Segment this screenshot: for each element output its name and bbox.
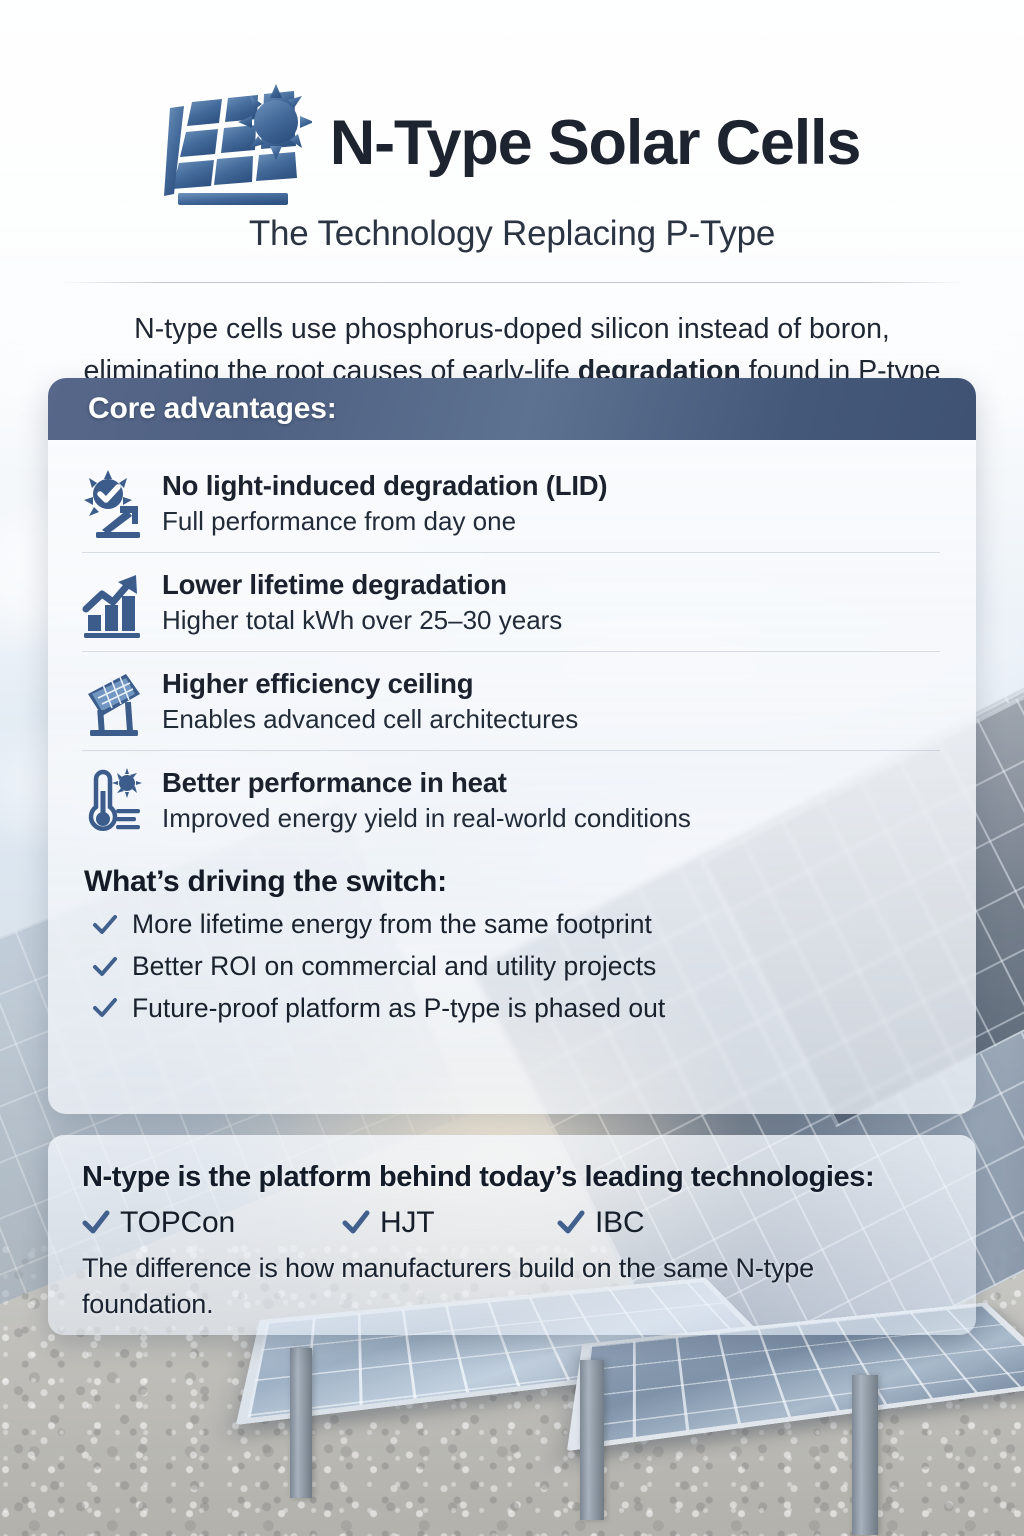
bar-chart-arrow-up-icon	[82, 569, 144, 639]
solar-panel-stand-icon	[82, 668, 144, 738]
title-row: N-Type Solar Cells	[164, 78, 860, 208]
check-icon	[557, 1209, 585, 1237]
list-item: Better performance in heat Improved ener…	[82, 751, 940, 849]
list-item-subtitle: Full performance from day one	[162, 505, 607, 539]
list-item: Higher efficiency ceiling Enables advanc…	[82, 652, 940, 751]
driving-switch-section: What’s driving the switch: More lifetime…	[48, 849, 976, 1024]
advantages-list: No light-induced degradation (LID) Full …	[48, 440, 976, 849]
check-icon	[82, 1209, 110, 1237]
list-item-subtitle: Higher total kWh over 25–30 years	[162, 604, 562, 638]
list-item-title: No light-induced degradation (LID)	[162, 470, 607, 502]
list-item: More lifetime energy from the same footp…	[92, 909, 940, 941]
technologies-title: N-type is the platform behind today’s le…	[82, 1161, 942, 1194]
list-item-subtitle: Enables advanced cell architectures	[162, 703, 578, 737]
list-item: Better ROI on commercial and utility pro…	[92, 951, 940, 983]
list-item-text: Higher efficiency ceiling Enables advanc…	[162, 666, 578, 737]
core-advantages-card: Core advantages:	[48, 378, 976, 1114]
list-item: No light-induced degradation (LID) Full …	[82, 454, 940, 553]
list-item-label: Future-proof platform as P-type is phase…	[132, 993, 665, 1025]
list-item-subtitle: Improved energy yield in real-world cond…	[162, 802, 691, 836]
tech-label: IBC	[595, 1206, 644, 1240]
list-item-title: Better performance in heat	[162, 767, 691, 799]
technologies-card: N-type is the platform behind today’s le…	[48, 1135, 976, 1335]
header-divider	[58, 282, 966, 283]
check-icon	[92, 912, 118, 938]
tech-item-hjt: HJT	[342, 1206, 557, 1240]
check-icon	[342, 1209, 370, 1237]
check-icon	[92, 995, 118, 1021]
solar-panel-sun-icon	[164, 78, 312, 208]
sun-check-growth-icon	[82, 470, 144, 540]
tech-item-topcon: TOPCon	[82, 1206, 342, 1240]
infographic-page: N-Type Solar Cells The Technology Replac…	[0, 0, 1024, 1536]
list-item-title: Lower lifetime degradation	[162, 569, 562, 601]
intro-line-1: N-type cells use phosphorus-doped silico…	[58, 309, 966, 351]
page-title: N-Type Solar Cells	[330, 112, 860, 175]
thermometer-sun-icon	[82, 767, 144, 837]
tech-item-ibc: IBC	[557, 1206, 644, 1240]
tech-label: HJT	[380, 1206, 434, 1240]
list-item-label: More lifetime energy from the same footp…	[132, 909, 652, 941]
list-item-text: Better performance in heat Improved ener…	[162, 765, 691, 836]
list-item-title: Higher efficiency ceiling	[162, 668, 578, 700]
card-header-title: Core advantages:	[88, 392, 337, 426]
page-subtitle: The Technology Replacing P-Type	[249, 214, 775, 254]
list-item-text: No light-induced degradation (LID) Full …	[162, 468, 607, 539]
technologies-note: The difference is how manufacturers buil…	[82, 1250, 942, 1323]
driving-switch-title: What’s driving the switch:	[84, 865, 940, 899]
card-header-bar: Core advantages:	[48, 378, 976, 440]
list-item: Future-proof platform as P-type is phase…	[92, 993, 940, 1025]
technologies-row: TOPCon HJT IBC	[82, 1206, 942, 1240]
tech-label: TOPCon	[120, 1206, 235, 1240]
list-item: Lower lifetime degradation Higher total …	[82, 553, 940, 652]
list-item-text: Lower lifetime degradation Higher total …	[162, 567, 562, 638]
header: N-Type Solar Cells The Technology Replac…	[0, 0, 1024, 254]
check-icon	[92, 954, 118, 980]
title-block: N-Type Solar Cells	[330, 112, 860, 175]
list-item-label: Better ROI on commercial and utility pro…	[132, 951, 656, 983]
